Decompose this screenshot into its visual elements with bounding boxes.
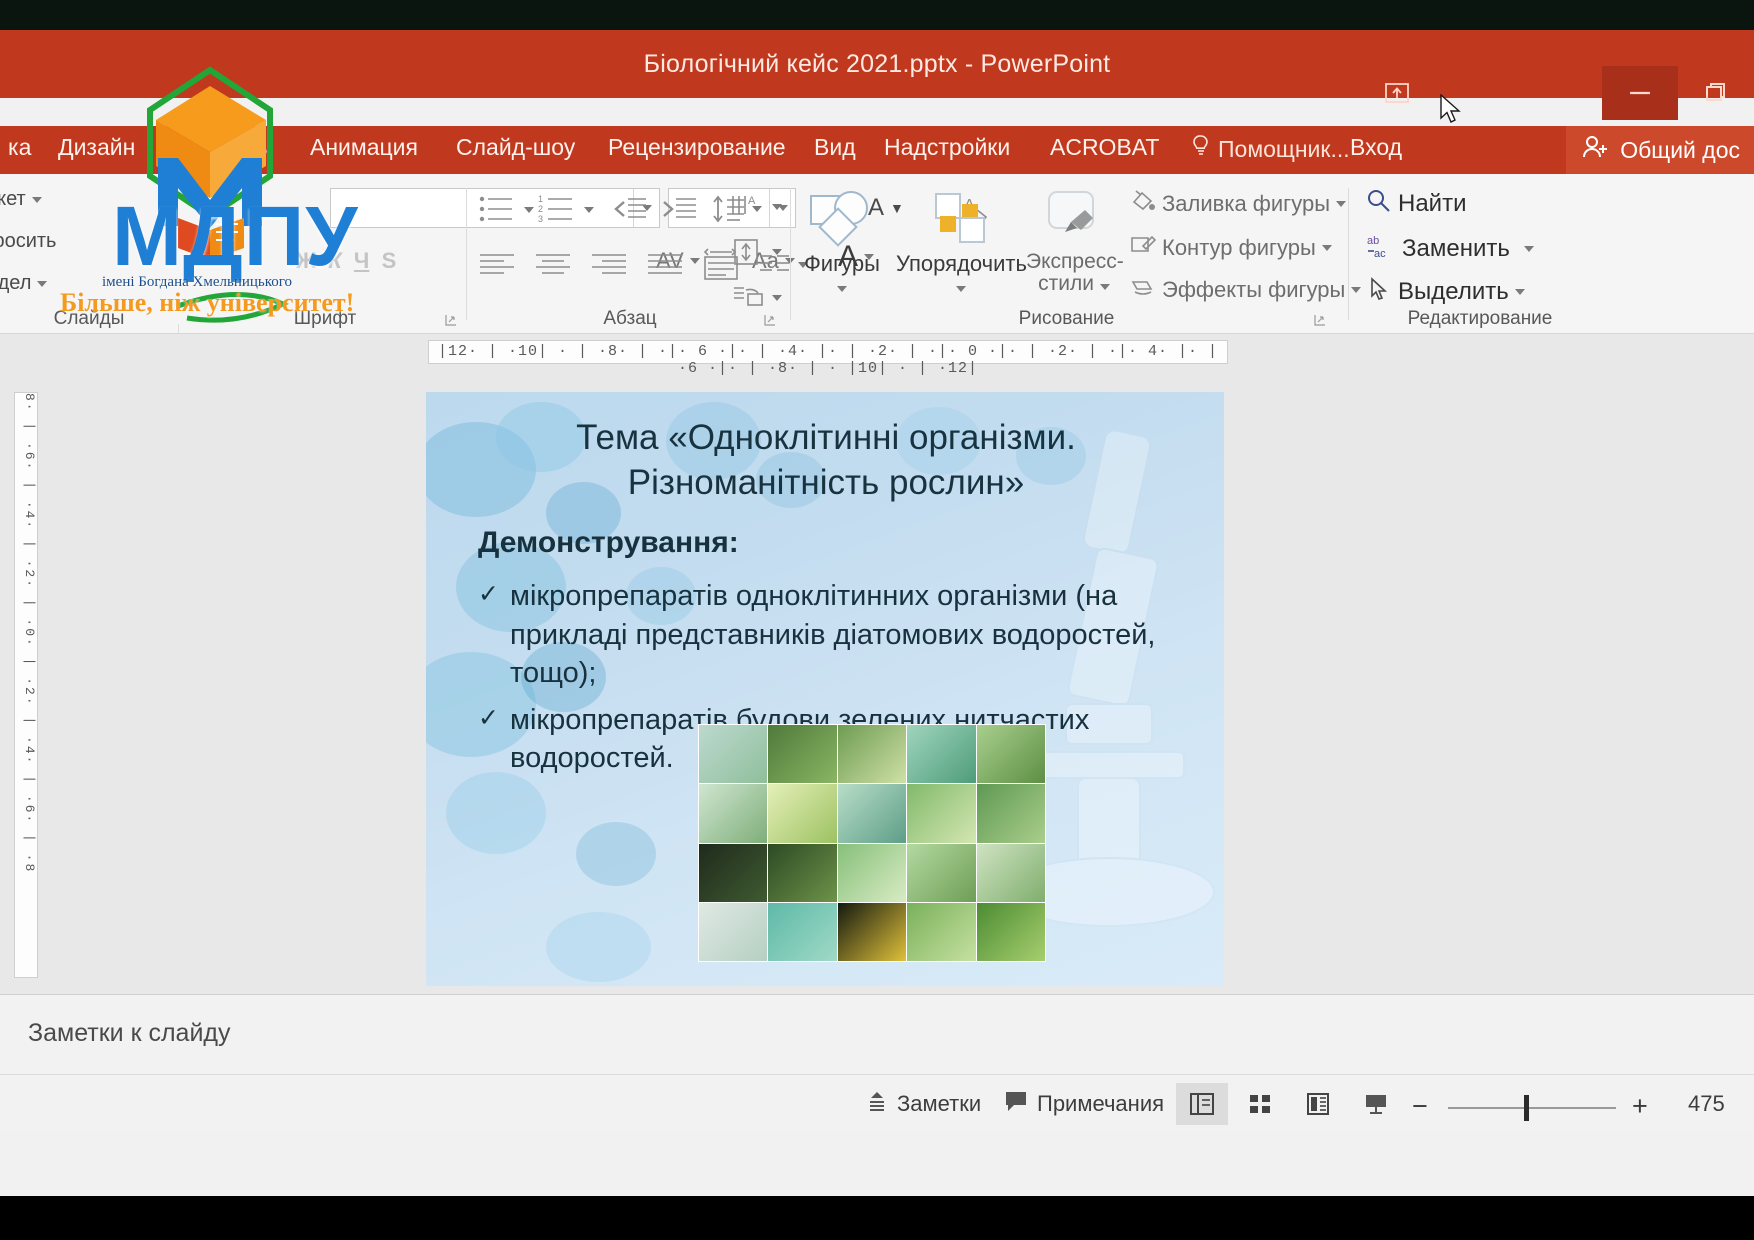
notes-pane[interactable]: Заметки к слайду [0,994,1754,1074]
ribbon-group-label-slides: Слайды [0,308,178,330]
align-left-icon[interactable] [478,250,518,280]
slide-title-line2: Різноманітність рослин» [628,463,1024,502]
tab-review[interactable]: Рецензирование [608,134,786,170]
arrange-icon [928,235,994,252]
svg-text:2: 2 [538,204,543,214]
shape-outline-icon [1128,232,1156,263]
quick-styles-label-line1: Экспресс- [1026,250,1124,273]
comments-button-label: Примечания [1037,1091,1164,1117]
window-title: Біологічний кейс 2021.pptx - PowerPoint [0,50,1754,79]
zoom-level-label[interactable]: 475 [1688,1087,1725,1121]
restore-button[interactable] [1678,66,1754,120]
svg-text:ab: ab [1367,235,1379,247]
tab-home[interactable]: ка [8,134,31,170]
tab-view[interactable]: Вид [814,134,856,170]
group-separator [790,188,791,320]
font-style-buttons[interactable]: Ж К Ч S [296,248,396,274]
share-person-icon [1582,134,1610,166]
shape-outline-label: Контур фигуры [1162,235,1316,261]
svg-text:ac: ac [1374,248,1386,260]
replace-label: Заменить [1402,235,1510,263]
increase-indent-icon[interactable] [658,192,698,226]
tab-slideshow[interactable]: Слайд-шоу [456,134,575,170]
convert-to-smartart-icon[interactable] [730,282,782,314]
replace-button[interactable]: ab ac Заменить [1366,232,1534,265]
font-dialog-launcher[interactable] [445,314,459,328]
window-controls [1602,66,1754,120]
slide-reset-button[interactable]: бросить [0,230,56,253]
shape-effects-icon [1128,274,1156,305]
slide-sorter-view-button[interactable] [1234,1083,1286,1125]
bullets-icon[interactable] [478,192,534,228]
tab-animation[interactable]: Анимация [310,134,418,170]
find-button[interactable]: Найти [1366,188,1466,219]
shapes-label: Фигуры [796,251,888,277]
tab-transitions[interactable]: оды [230,134,272,170]
chevron-down-icon[interactable] [837,286,847,292]
share-label: Общий дос [1620,137,1740,164]
shape-fill-label: Заливка фигуры [1162,191,1330,217]
right-empty-pane [1232,334,1754,994]
svg-text:3: 3 [538,214,543,224]
powerpoint-window: Біологічний кейс 2021.pptx - PowerPoint [0,30,1754,1196]
comments-button[interactable]: Примечания [1004,1087,1164,1121]
ribbon-group-slides: акет бросить аздел Слайды [0,174,178,334]
drawing-dialog-launcher[interactable] [1314,314,1328,328]
arrange-label: Упорядочить [896,251,1026,277]
slide-title-line1: Тема «Одноклітинні організми. [576,418,1076,457]
chevron-down-icon[interactable] [956,286,966,292]
notes-button-label: Заметки [897,1091,981,1117]
zoom-slider-track[interactable] [1448,1107,1616,1109]
shape-effects-button[interactable]: Эффекты фигуры [1128,274,1361,305]
status-bar: Заметки Примечания − [0,1074,1754,1130]
slide-thumbnail-pane[interactable] [0,334,410,994]
select-label: Выделить [1398,278,1509,306]
list-item[interactable]: ✓ мікропрепаратів одноклітинних організм… [476,577,1176,693]
decrease-indent-icon[interactable] [608,192,648,226]
tab-addins[interactable]: Надстройки [884,134,1010,170]
ribbon-tabs: ка Дизайн оды Анимация Слайд-шоу Рецензи… [0,126,1754,174]
title-bar: Біологічний кейс 2021.pptx - PowerPoint [0,30,1754,98]
group-separator [466,188,467,320]
align-text-icon[interactable] [730,236,782,268]
shape-effects-label: Эффекты фигуры [1162,277,1345,303]
algae-photo-grid[interactable] [698,724,1046,962]
reading-view-button[interactable] [1292,1083,1344,1125]
signin-link[interactable]: Вход [1350,134,1402,170]
chevron-down-icon[interactable] [1336,201,1346,207]
vertical-ruler: 8· | ·6· | ·4· | ·2· | ·0· | ·2· | ·4· |… [14,392,38,978]
slideshow-view-button[interactable] [1350,1083,1402,1125]
slide-subtitle[interactable]: Демонстрування: [478,526,739,560]
letterbox-bottom [0,1196,1754,1240]
decorative-blob [576,822,656,886]
replace-icon: ab ac [1366,232,1396,265]
chevron-down-icon [37,281,47,287]
quick-styles-button[interactable]: Экспресс- стили [1026,188,1122,295]
chevron-down-icon[interactable] [1524,246,1534,252]
comment-icon [1004,1089,1028,1119]
shapes-icon [807,235,877,252]
slide-section-button[interactable]: аздел [0,272,47,295]
ribbon-display-options-icon[interactable] [1380,78,1414,108]
align-right-icon[interactable] [590,250,630,280]
svg-text:1: 1 [538,194,543,204]
chevron-down-icon[interactable] [1100,284,1110,290]
lightbulb-icon [1192,134,1210,164]
zoom-in-button[interactable]: + [1632,1091,1648,1122]
ribbon: акет бросить аздел Слайды Шрифт [0,174,1754,334]
notes-placeholder: Заметки к слайду [28,1019,231,1048]
checkmark-icon: ✓ [478,578,499,611]
numbering-icon[interactable]: 1 2 3 [538,192,594,228]
quick-styles-label-line2: стили [1038,272,1094,295]
slide-canvas[interactable]: Тема «Одноклітинні організми. Різноманіт… [426,392,1224,986]
text-direction-icon[interactable]: A [730,192,782,222]
pointer-icon [1366,276,1392,307]
ribbon-group-label-drawing: Рисование [794,308,1339,330]
horizontal-ruler: |12· | ·10| · | ·8· | ·|· 6 ·|· | ·4· |·… [428,340,1228,364]
slide-layout-button[interactable]: акет [0,188,42,211]
notes-icon [866,1089,888,1119]
group-separator [1348,188,1349,320]
normal-view-button[interactable] [1176,1083,1228,1125]
select-button[interactable]: Выделить [1366,276,1525,307]
align-center-icon[interactable] [534,250,574,280]
checkmark-icon: ✓ [478,702,499,735]
decorative-blob [546,912,651,982]
mouse-cursor [1440,94,1462,126]
find-label: Найти [1398,190,1466,218]
share-button[interactable]: Общий дос [1566,126,1754,174]
zoom-out-button[interactable]: − [1412,1091,1428,1122]
slide-title[interactable]: Тема «Одноклітинні організми. Різноманіт… [476,416,1176,506]
shape-fill-button[interactable]: Заливка фигуры [1128,188,1346,219]
search-icon [1366,188,1392,219]
assistant-label: Помощник... [1218,136,1350,163]
notes-button[interactable]: Заметки [866,1087,981,1121]
chevron-down-icon[interactable] [1515,289,1525,295]
shape-outline-button[interactable]: Контур фигуры [1128,232,1332,263]
quick-styles-icon [1041,233,1107,250]
paragraph-dialog-launcher[interactable] [764,314,778,328]
svg-text:A: A [748,195,756,207]
minimize-button[interactable] [1602,66,1678,120]
ribbon-group-label-editing: Редактирование [1352,308,1608,330]
zoom-slider-thumb[interactable] [1524,1095,1529,1121]
tab-design[interactable]: Дизайн [58,134,135,170]
shape-fill-icon [1128,188,1156,219]
tab-acrobat[interactable]: ACROBAT [1050,134,1159,170]
arrange-button[interactable]: Упорядочить [896,188,1026,297]
tell-me-assistant[interactable]: Помощник... [1192,134,1350,164]
ribbon-group-label-font: Шрифт [180,308,470,330]
shapes-button[interactable]: Фигуры [796,188,888,297]
screenshot-root: Біологічний кейс 2021.pptx - PowerPoint [0,0,1754,1240]
chevron-down-icon [32,197,42,203]
bullet-text: мікропрепаратів одноклітинних організми … [510,580,1155,689]
justify-icon[interactable] [646,250,686,280]
chevron-down-icon[interactable] [1322,245,1332,251]
letterbox-top [0,0,1754,30]
